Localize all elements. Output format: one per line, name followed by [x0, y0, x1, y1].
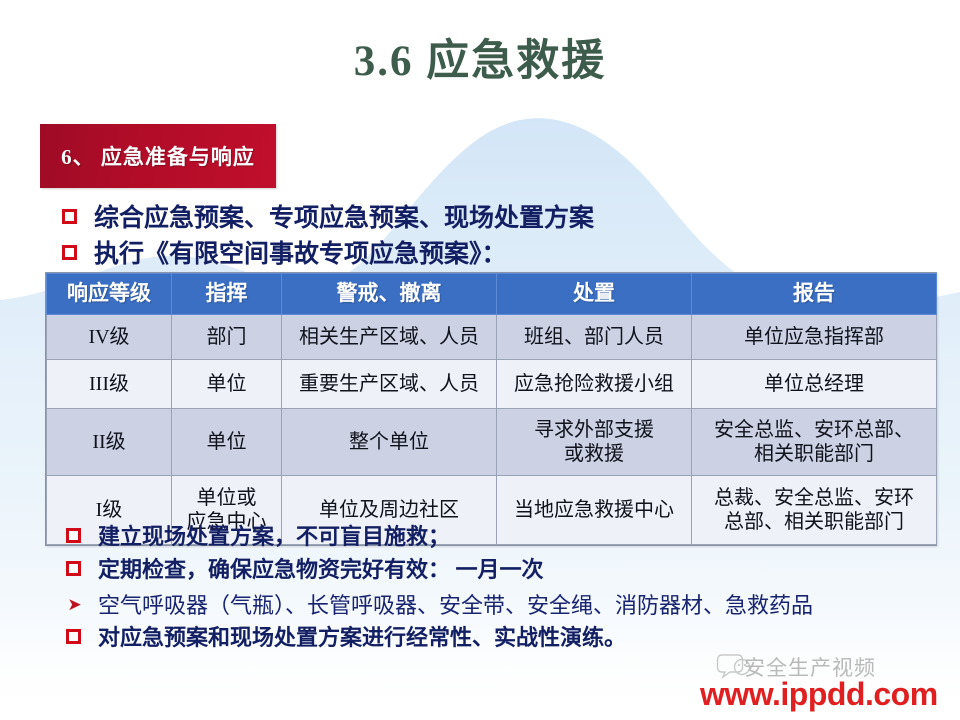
square-bullet-icon	[66, 528, 81, 543]
cell-report: 单位应急指挥部	[692, 315, 937, 360]
cell-disposal: 应急抢险救援小组	[497, 360, 692, 409]
bullet-text: 定期检查，确保应急物资完好有效： 一月一次	[98, 552, 544, 584]
cell-command: 部门	[172, 315, 282, 360]
cell-warning: 整个单位	[282, 409, 497, 476]
section-banner-label: 6、 应急准备与响应	[40, 141, 276, 171]
square-bullet-icon	[66, 561, 81, 576]
cell-level: II级	[47, 409, 172, 476]
cell-warning: 相关生产区域、人员	[282, 315, 497, 360]
table-header-cell-command: 指挥	[172, 274, 282, 315]
cell-disposal: 班组、部门人员	[497, 315, 692, 360]
bullet-item-top-2: 执行《有限空间事故专项应急预案》：	[62, 234, 507, 270]
table-header-cell-report: 报告	[692, 274, 937, 315]
table-header-row: 响应等级 指挥 警戒、撤离 处置 报告	[47, 274, 937, 315]
emergency-response-table: 响应等级 指挥 警戒、撤离 处置 报告 IV级 部门 相关生产区域、人员 班组、…	[45, 272, 937, 546]
square-bullet-icon	[66, 629, 81, 644]
watermark-url-text: www.ippdd.com	[700, 676, 938, 713]
bullet-item-bottom-4: 对应急预案和现场处置方案进行经常性、实战性演练。	[66, 620, 626, 652]
bullet-text: 综合应急预案、专项应急预案、现场处置方案	[94, 198, 594, 234]
cell-level: IV级	[47, 315, 172, 360]
table-row: IV级 部门 相关生产区域、人员 班组、部门人员 单位应急指挥部	[47, 315, 937, 360]
cell-warning: 重要生产区域、人员	[282, 360, 497, 409]
cell-report: 总裁、安全总监、安环总部、相关职能部门	[692, 476, 937, 545]
cell-disposal: 当地应急救援中心	[497, 476, 692, 545]
table-header-cell-level: 响应等级	[47, 274, 172, 315]
cell-command: 单位	[172, 409, 282, 476]
cell-level: III级	[47, 360, 172, 409]
bullet-item-bottom-1: 建立现场处置方案，不可盲目施救；	[66, 519, 450, 551]
bullet-text: 执行《有限空间事故专项应急预案》：	[94, 234, 507, 270]
arrow-bullet-icon: ➤	[66, 596, 83, 613]
bullet-text: 空气呼吸器（气瓶）、长管呼吸器、安全带、安全绳、消防器材、急救药品	[98, 588, 813, 620]
slide-canvas: 3.6 应急救援 6、 应急准备与响应 综合应急预案、专项应急预案、现场处置方案…	[0, 0, 960, 720]
bullet-item-bottom-2: 定期检查，确保应急物资完好有效： 一月一次	[66, 552, 544, 584]
cell-command: 单位	[172, 360, 282, 409]
cell-report: 安全总监、安环总部、相关职能部门	[692, 409, 937, 476]
table-header-cell-warning: 警戒、撤离	[282, 274, 497, 315]
cell-disposal: 寻求外部支援或救援	[497, 409, 692, 476]
square-bullet-icon	[62, 209, 77, 224]
bullet-text: 建立现场处置方案，不可盲目施救；	[98, 519, 450, 551]
table-header-cell-disposal: 处置	[497, 274, 692, 315]
square-bullet-icon	[62, 245, 77, 260]
bullet-item-top-1: 综合应急预案、专项应急预案、现场处置方案	[62, 198, 594, 234]
section-banner: 6、 应急准备与响应	[40, 124, 276, 188]
bullet-item-bottom-3: ➤ 空气呼吸器（气瓶）、长管呼吸器、安全带、安全绳、消防器材、急救药品	[66, 588, 813, 620]
watermark: 安全生产视频 www.ippdd.com	[700, 652, 958, 714]
cell-report: 单位总经理	[692, 360, 937, 409]
page-title: 3.6 应急救援	[0, 26, 960, 88]
bullet-text: 对应急预案和现场处置方案进行经常性、实战性演练。	[98, 620, 626, 652]
table-row: II级 单位 整个单位 寻求外部支援或救援 安全总监、安环总部、相关职能部门	[47, 409, 937, 476]
table-row: III级 单位 重要生产区域、人员 应急抢险救援小组 单位总经理	[47, 360, 937, 409]
